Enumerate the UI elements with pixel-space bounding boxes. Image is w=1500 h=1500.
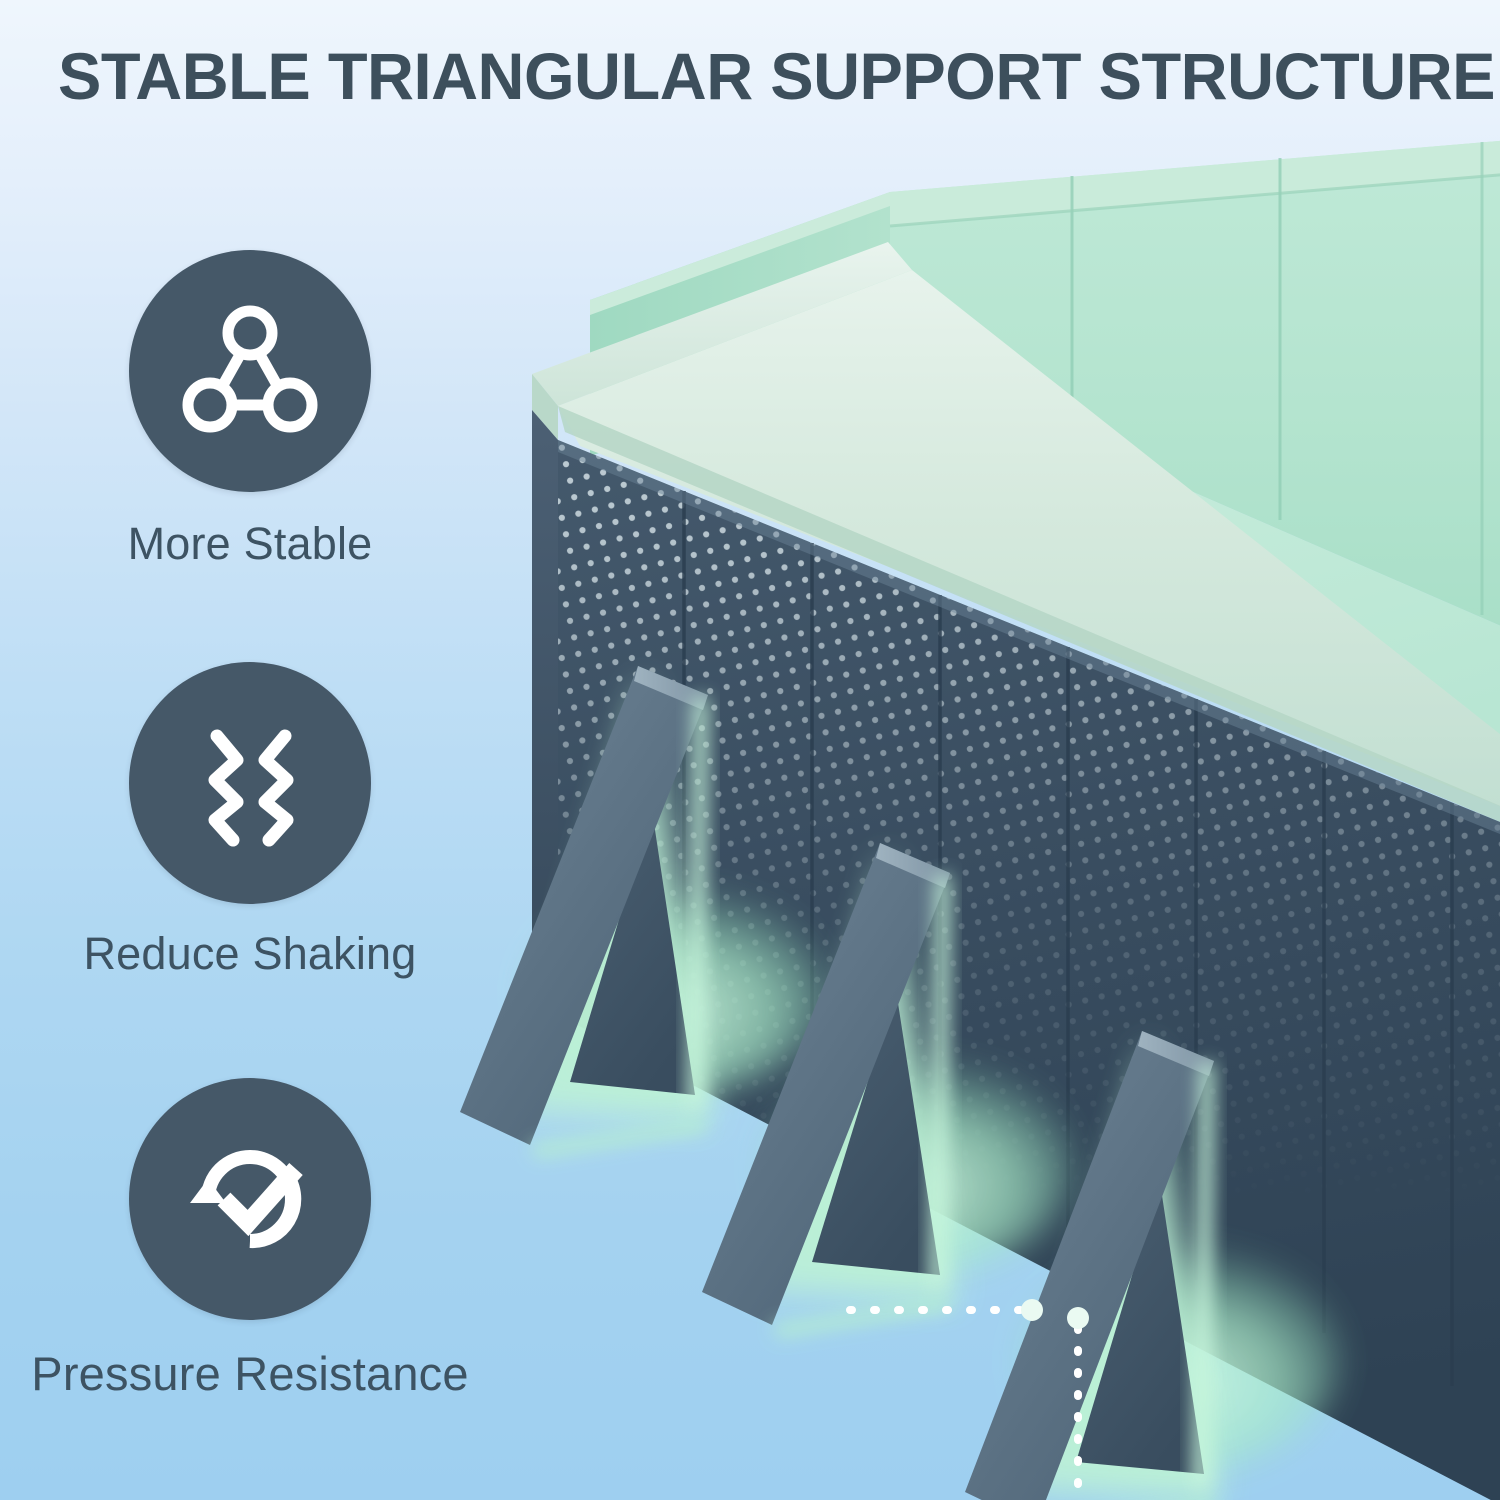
feature-label: Reduce Shaking [83,928,416,980]
rotate-check-icon [172,1121,328,1277]
product-illustration [420,110,1500,1500]
feature-item-reduce-shaking: Reduce Shaking [0,662,500,980]
page-title: STABLE TRIANGULAR SUPPORT STRUCTURE [58,42,1457,111]
feature-item-pressure-resistance: Pressure Resistance [0,1078,500,1401]
feature-item-more-stable: More Stable [0,250,500,570]
triangle-nodes-icon [176,297,324,445]
feature-label: More Stable [128,518,373,570]
vibration-zigzag-icon [175,708,325,858]
infographic-canvas: STABLE TRIANGULAR SUPPORT STRUCTURE [0,0,1500,1500]
feature-badge [129,1078,371,1320]
feature-badge [129,662,371,904]
feature-badge [129,250,371,492]
feature-label: Pressure Resistance [31,1346,468,1401]
